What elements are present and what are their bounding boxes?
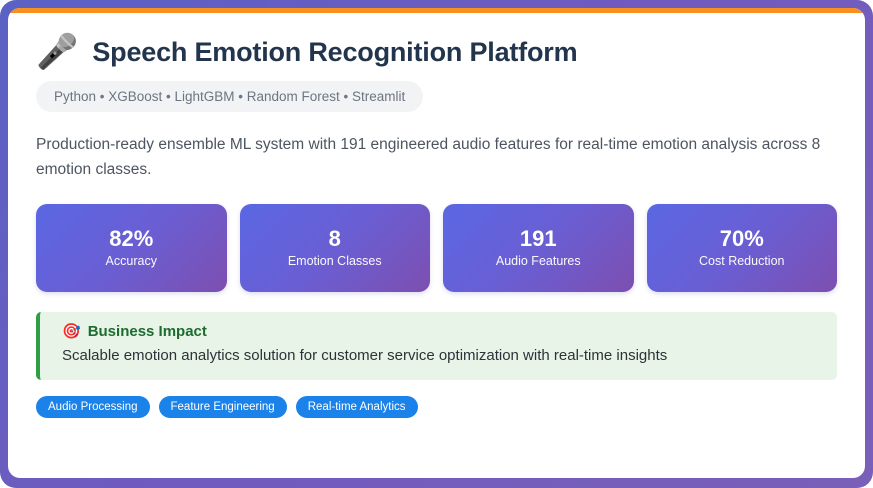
stat-value: 70% — [720, 228, 764, 250]
microphone-icon: 🎤 — [36, 35, 78, 69]
project-card: 🎤 Speech Emotion Recognition Platform Py… — [8, 8, 865, 478]
stat-label: Emotion Classes — [288, 255, 382, 268]
target-icon: 🎯 — [62, 324, 81, 339]
tag-real-time-analytics[interactable]: Real-time Analytics — [296, 396, 418, 418]
business-impact-panel: 🎯 Business Impact Scalable emotion analy… — [36, 312, 837, 380]
stat-label: Accuracy — [106, 255, 157, 268]
tag-feature-engineering[interactable]: Feature Engineering — [159, 396, 287, 418]
stat-label: Audio Features — [496, 255, 581, 268]
tag-audio-processing[interactable]: Audio Processing — [36, 396, 150, 418]
business-impact-title: Business Impact — [88, 323, 207, 340]
project-card-frame: 🎤 Speech Emotion Recognition Platform Py… — [0, 0, 873, 488]
business-impact-heading: 🎯 Business Impact — [62, 323, 819, 340]
stat-card-emotion-classes: 8 Emotion Classes — [240, 204, 431, 292]
tech-stack-badge: Python • XGBoost • LightGBM • Random For… — [36, 81, 423, 112]
business-impact-text: Scalable emotion analytics solution for … — [62, 345, 819, 367]
page-title: Speech Emotion Recognition Platform — [92, 37, 577, 68]
stat-value: 191 — [520, 228, 557, 250]
card-header: 🎤 Speech Emotion Recognition Platform — [36, 35, 837, 69]
stat-label: Cost Reduction — [699, 255, 784, 268]
stat-value: 8 — [329, 228, 341, 250]
stat-value: 82% — [109, 228, 153, 250]
stat-card-accuracy: 82% Accuracy — [36, 204, 227, 292]
stat-card-cost-reduction: 70% Cost Reduction — [647, 204, 838, 292]
card-content: 🎤 Speech Emotion Recognition Platform Py… — [8, 13, 865, 478]
project-description: Production-ready ensemble ML system with… — [36, 132, 826, 182]
stat-card-audio-features: 191 Audio Features — [443, 204, 634, 292]
stats-row: 82% Accuracy 8 Emotion Classes 191 Audio… — [36, 204, 837, 292]
tag-list: Audio Processing Feature Engineering Rea… — [36, 396, 837, 418]
